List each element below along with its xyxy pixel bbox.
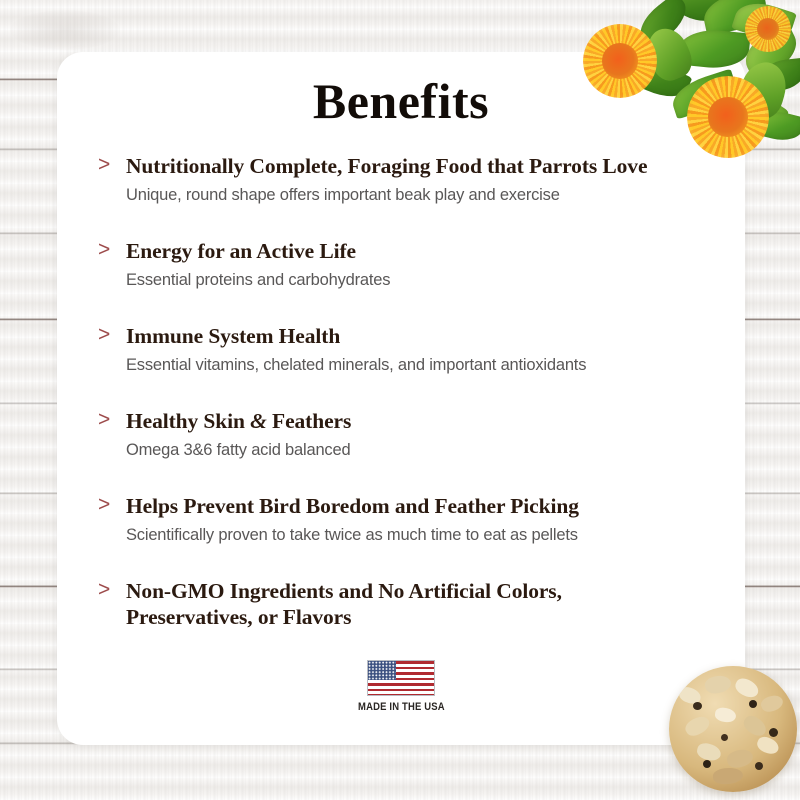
benefit-heading: Energy for an Active Life [126,238,708,264]
benefit-subtext: Omega 3&6 fatty acid balanced [126,440,708,461]
page-root: Benefits > Nutritionally Complete, Forag… [0,0,800,800]
benefit-heading-line1: Non-GMO Ingredients and No Artificial Co… [126,578,708,604]
list-item[interactable]: > Energy for an Active Life Essential pr… [98,238,708,323]
made-in-usa-label: MADE IN THE USA [358,701,445,713]
chevron-right-icon: > [98,153,120,177]
benefit-heading: Immune System Health [126,323,708,349]
safflower-bloom [583,24,657,98]
benefit-subtext: Unique, round shape offers important bea… [126,185,708,206]
benefit-subtext: Scientifically proven to take twice as m… [126,525,708,546]
benefit-heading-part2: Feathers [267,409,351,433]
flag-canton [368,661,396,680]
list-item[interactable]: > Immune System Health Essential vitamin… [98,323,708,408]
safflower-bloom [687,76,769,158]
benefit-heading: Helps Prevent Bird Boredom and Feather P… [126,493,708,519]
benefits-list: > Nutritionally Complete, Foraging Food … [98,153,708,638]
benefit-heading-part1: Healthy Skin [126,409,250,433]
chevron-right-icon: > [98,408,120,432]
ampersand-glyph: & [250,409,267,433]
safflower-decoration [575,0,800,175]
chevron-right-icon: > [98,323,120,347]
parrot-food-ball [669,666,797,792]
safflower-bloom [745,6,791,52]
wood-knot [10,10,120,50]
benefit-subtext: Essential proteins and carbohydrates [126,270,708,291]
united-states-flag-icon [367,660,435,696]
benefit-heading: Healthy Skin & Feathers [126,408,708,434]
benefit-heading-line2: Preservatives, or Flavors [126,604,708,630]
list-item[interactable]: > Non-GMO Ingredients and No Artificial … [98,578,708,638]
list-item[interactable]: > Helps Prevent Bird Boredom and Feather… [98,493,708,578]
benefit-subtext: Essential vitamins, chelated minerals, a… [126,355,708,376]
list-item[interactable]: > Healthy Skin & Feathers Omega 3&6 fatt… [98,408,708,493]
chevron-right-icon: > [98,238,120,262]
chevron-right-icon: > [98,493,120,517]
flag-stars [368,661,396,680]
chevron-right-icon: > [98,578,120,602]
made-in-usa-badge: MADE IN THE USA [57,660,745,713]
